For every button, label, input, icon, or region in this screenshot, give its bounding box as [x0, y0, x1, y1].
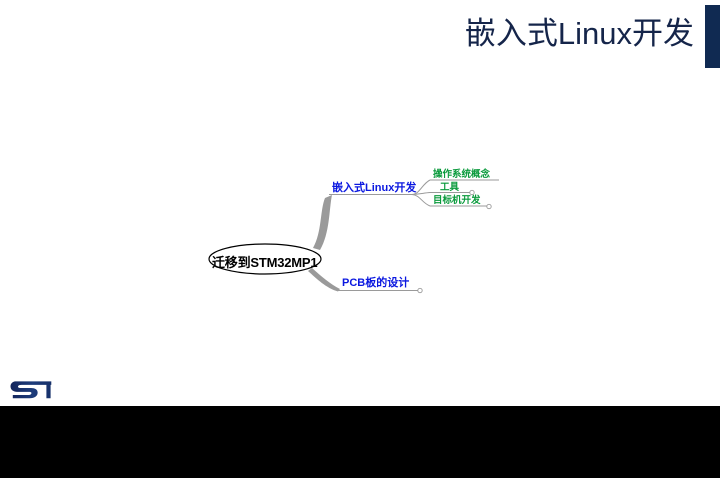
subbranch-label-tools[interactable]: 工具 — [440, 183, 459, 193]
slide: 嵌入式Linux开发 迁移到STM32MP1 — [0, 0, 720, 478]
subbranch-label-os-concept[interactable]: 操作系统概念 — [433, 170, 490, 180]
connector-linux-to-target-dev — [412, 195, 430, 207]
st-logo-swoosh — [11, 381, 52, 398]
bottom-black-band — [0, 406, 720, 478]
root-node-label[interactable]: 迁移到STM32MP1 — [212, 252, 317, 271]
st-microelectronics-logo — [10, 374, 52, 400]
collapse-handle-target-dev[interactable] — [487, 204, 491, 208]
subbranch-label-target-development[interactable]: 目标机开发 — [433, 196, 481, 206]
connector-root-to-pcb — [308, 268, 340, 292]
mindmap-canvas: 迁移到STM32MP1 嵌入式Linux开发 PCB板的设计 操作系统概念 工具… — [0, 0, 720, 410]
connector-root-to-linux — [313, 195, 332, 250]
branch-label-embedded-linux[interactable]: 嵌入式Linux开发 — [332, 183, 416, 194]
branch-label-pcb-design[interactable]: PCB板的设计 — [342, 278, 409, 289]
mindmap-connectors — [0, 0, 720, 410]
collapse-handle-pcb[interactable] — [418, 288, 422, 292]
